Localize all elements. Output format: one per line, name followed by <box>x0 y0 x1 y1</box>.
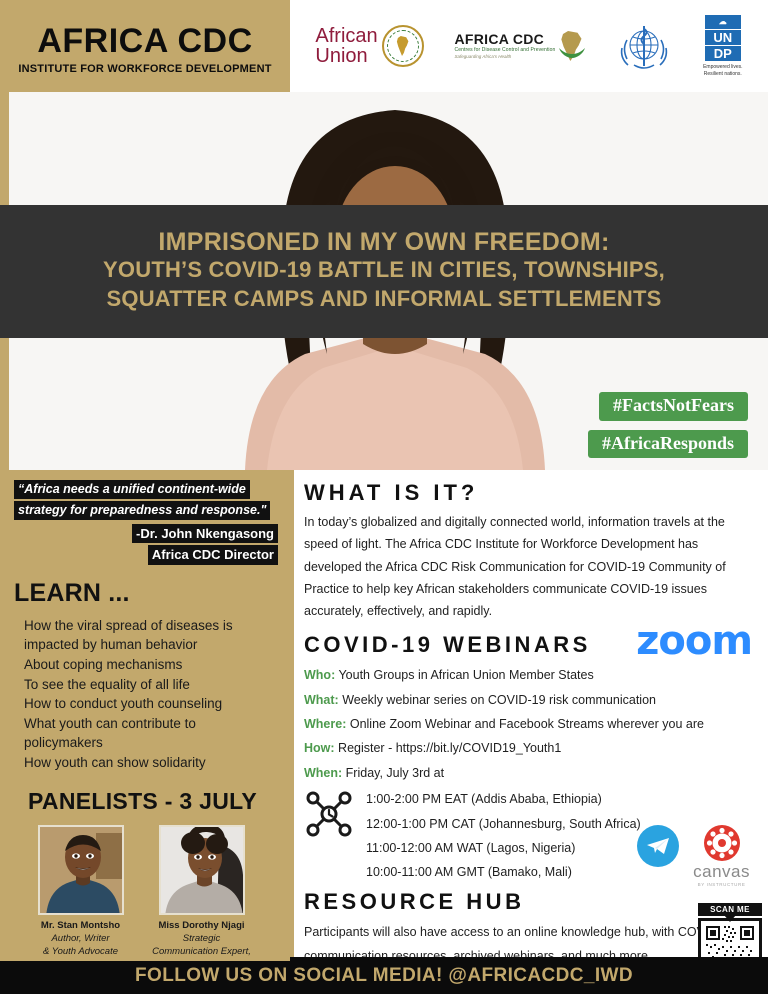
hashtag-africa-responds[interactable]: #AfricaResponds <box>588 430 748 459</box>
quote-line-2: strategy for preparedness and response." <box>14 501 270 520</box>
webinar-time: 12:00-1:00 PM CAT (Johannesburg, South A… <box>366 812 641 836</box>
title-banner: IMPRISONED IN MY OWN FREEDOM: YOUTH’S CO… <box>0 205 768 338</box>
hashtag-facts-not-fears[interactable]: #FactsNotFears <box>599 392 748 421</box>
webinars-block: COVID-19 WEBINARS zoom <box>304 632 754 658</box>
learn-heading: LEARN ... <box>14 579 278 608</box>
who-logo <box>616 18 672 74</box>
undp-mark-icon: ☁ UN DP <box>705 15 741 61</box>
panelist-photo <box>38 825 124 915</box>
footer-social-text: FOLLOW US ON SOCIAL MEDIA! @AFRICACDC_IW… <box>135 965 633 987</box>
undp-letters-dp: DP <box>705 46 741 61</box>
undp-logo: ☁ UN DP Empowered lives.Resilient nation… <box>703 15 742 77</box>
cupped-hands-icon <box>557 47 587 59</box>
right-column: WHAT IS IT? In today’s globalized and di… <box>290 470 768 957</box>
africa-cdc-logo-title: AFRICA CDC <box>454 31 555 47</box>
webinar-time: 10:00-11:00 AM GMT (Bamako, Mali) <box>366 860 641 884</box>
poster-body: “Africa needs a unified continent-wide s… <box>0 470 768 957</box>
poster-header: AFRICA CDC INSTITUTE FOR WORKFORCE DEVEL… <box>0 0 768 92</box>
africa-cdc-partner-logo: AFRICA CDC Centres for Disease Control a… <box>454 31 585 61</box>
learn-item: What youth can contribute to <box>24 714 278 734</box>
brand-subtitle: INSTITUTE FOR WORKFORCE DEVELOPMENT <box>18 63 271 75</box>
resource-line-1: Participants will also have access to an… <box>304 920 754 944</box>
canvas-logo: canvas BY INSTRUCTURE <box>693 825 750 887</box>
webinar-time: 1:00-2:00 PM EAT (Addis Ababa, Ethiopia) <box>366 787 641 811</box>
africa-cdc-brand: AFRICA CDC INSTITUTE FOR WORKFORCE DEVEL… <box>0 0 290 92</box>
panelist-role-line1: Author, Writer <box>51 933 109 946</box>
undp-letters-un: UN <box>705 30 741 45</box>
zoom-logo: zoom <box>636 618 752 664</box>
panelist-role-line1: Strategic Communication Expert, <box>149 933 254 959</box>
africa-map-icon <box>395 36 411 56</box>
undp-tagline: Empowered lives.Resilient nations. <box>703 64 742 77</box>
learn-item: How to conduct youth counseling <box>24 694 278 714</box>
banner-title-line2: YOUTH’S COVID-19 BATTLE IN CITIES, TOWNS… <box>103 256 665 285</box>
learn-item: About coping mechanisms <box>24 655 278 675</box>
detail-value: Weekly webinar series on COVID-19 risk c… <box>342 693 656 707</box>
african-union-line2: Union <box>315 46 377 66</box>
webinar-times-block: 1:00-2:00 PM EAT (Addis Ababa, Ethiopia)… <box>304 787 754 885</box>
footer-gold-bar <box>0 957 290 961</box>
panelists-heading: PANELISTS - 3 JULY <box>14 788 278 815</box>
what-is-it-body: In today’s globalized and digitally conn… <box>304 511 754 622</box>
detail-row-when: When: Friday, July 3rd at <box>304 761 754 785</box>
learn-item: How youth can show solidarity <box>24 753 278 773</box>
resource-hub-heading: RESOURCE HUB <box>304 889 754 915</box>
undp-globe-icon: ☁ <box>705 15 741 30</box>
left-column: “Africa needs a unified continent-wide s… <box>0 470 290 957</box>
banner-title-line3: SQUATTER CAMPS AND INFORMAL SETTLEMENTS <box>107 285 662 314</box>
canvas-wordmark: canvas <box>693 862 750 882</box>
african-union-seal-icon <box>382 25 424 67</box>
poster-root: AFRICA CDC INSTITUTE FOR WORKFORCE DEVEL… <box>0 0 768 994</box>
detail-value: Online Zoom Webinar and Facebook Streams… <box>350 717 704 731</box>
quote-author-title: Africa CDC Director <box>148 545 278 565</box>
quote-author: -Dr. John Nkengasong <box>132 524 278 544</box>
canvas-mark-icon <box>704 825 740 861</box>
detail-row-what: What: Weekly webinar series on COVID-19 … <box>304 688 754 712</box>
hashtag-group: #FactsNotFears #AfricaResponds <box>588 392 748 458</box>
panelist-name: Miss Dorothy Njagi <box>158 920 244 933</box>
detail-row-who: Who: Youth Groups in African Union Membe… <box>304 663 754 687</box>
detail-key: Who: <box>304 668 335 682</box>
panelist-portrait-illustration <box>161 827 245 915</box>
what-is-it-heading: WHAT IS IT? <box>304 480 754 506</box>
learn-item: To see the equality of all life <box>24 675 278 695</box>
telegram-logo <box>637 825 679 867</box>
scan-me-label: SCAN ME <box>698 903 762 916</box>
platform-logos: canvas BY INSTRUCTURE <box>637 825 750 887</box>
detail-key: How: <box>304 741 335 755</box>
partner-logos: African Union AFRICA CDC Centres for Dis… <box>290 0 768 92</box>
canvas-byline: BY INSTRUCTURE <box>698 882 746 887</box>
director-quote: “Africa needs a unified continent-wide s… <box>14 480 278 567</box>
webinar-time: 11:00-12:00 AM WAT (Lagos, Nigeria) <box>366 836 641 860</box>
poster-footer: FOLLOW US ON SOCIAL MEDIA! @AFRICACDC_IW… <box>0 957 768 994</box>
detail-value: Friday, July 3rd at <box>346 766 444 780</box>
africa-cdc-logo-sub1: Centres for Disease Control and Preventi… <box>454 47 555 53</box>
detail-key: What: <box>304 693 339 707</box>
quote-line-1: “Africa needs a unified continent-wide <box>14 480 250 499</box>
banner-title-line1: IMPRISONED IN MY OWN FREEDOM: <box>158 228 609 257</box>
hero-section: IMPRISONED IN MY OWN FREEDOM: YOUTH’S CO… <box>0 92 768 470</box>
panelist-photo <box>159 825 245 915</box>
network-clock-icon <box>304 789 354 839</box>
webinar-times-list: 1:00-2:00 PM EAT (Addis Ababa, Ethiopia)… <box>366 787 641 885</box>
panelist-name: Mr. Stan Montsho <box>41 920 120 933</box>
african-union-logo: African Union <box>315 25 423 67</box>
african-union-line1: African <box>315 26 377 46</box>
detail-row-where: Where: Online Zoom Webinar and Facebook … <box>304 712 754 736</box>
detail-value: Youth Groups in African Union Member Sta… <box>338 668 593 682</box>
learn-list: How the viral spread of diseases is impa… <box>14 616 278 773</box>
learn-item: impacted by human behavior <box>24 635 278 655</box>
detail-value[interactable]: Register - https://bit.ly/COVID19_Youth1 <box>338 741 561 755</box>
detail-row-how: How: Register - https://bit.ly/COVID19_Y… <box>304 736 754 760</box>
paper-plane-icon <box>646 837 670 855</box>
webinar-details: Who: Youth Groups in African Union Membe… <box>304 663 754 785</box>
detail-key: When: <box>304 766 342 780</box>
africa-cdc-logo-sub2: Safeguarding Africa's Health <box>454 54 555 59</box>
brand-title: AFRICA CDC <box>37 24 252 58</box>
detail-key: Where: <box>304 717 346 731</box>
learn-item: How the viral spread of diseases is <box>24 616 278 636</box>
panelist-portrait-illustration <box>40 827 124 915</box>
learn-item: policymakers <box>24 733 278 753</box>
